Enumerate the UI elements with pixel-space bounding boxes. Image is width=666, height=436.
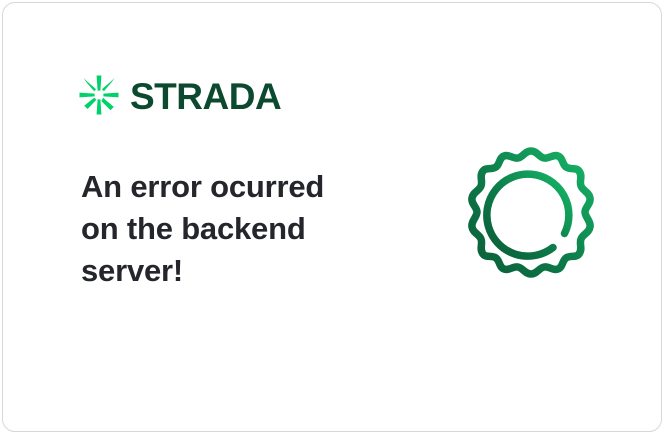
error-message: An error ocurred on the backend server!	[81, 166, 381, 292]
gear-illustration	[447, 137, 615, 313]
brand-wordmark: STRADA	[130, 78, 281, 115]
error-card: STRADA An error ocurred on the backend s…	[2, 2, 662, 432]
brand-lockup: STRADA	[77, 71, 281, 119]
gear-inner-arc	[487, 174, 569, 256]
gear-icon	[447, 137, 615, 313]
strada-asterisk-mark-icon	[77, 73, 121, 117]
